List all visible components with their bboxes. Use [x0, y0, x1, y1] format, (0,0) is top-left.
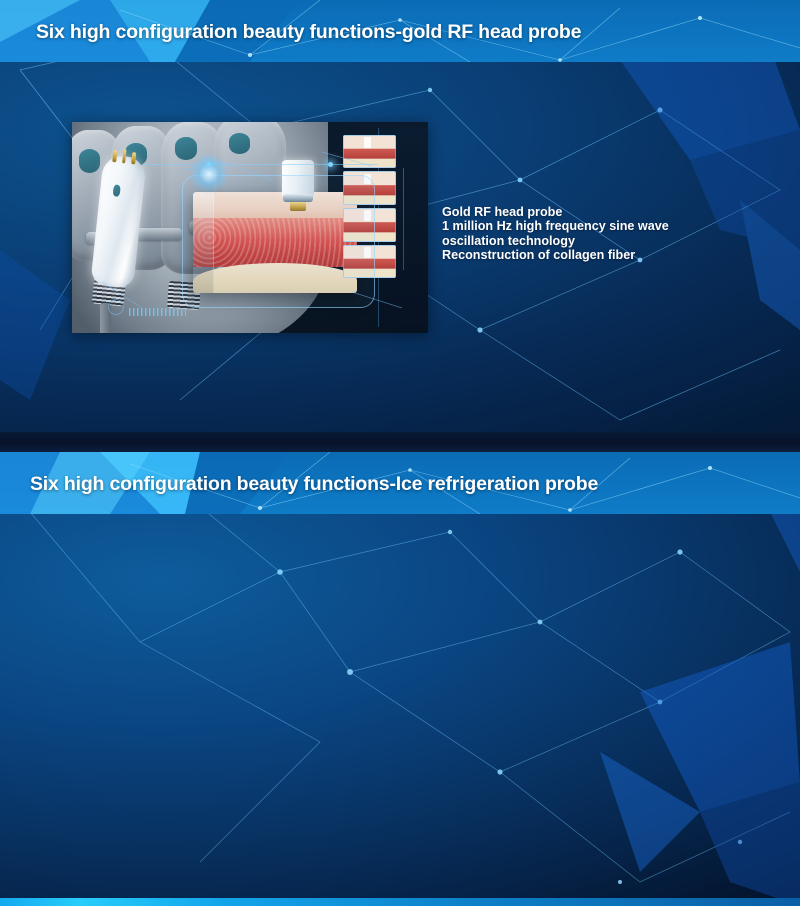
feature-description-gold-rf: Gold RF head probe 1 million Hz high fre…: [442, 205, 669, 263]
hud-light-flare: [189, 154, 229, 194]
feature-panel-gold-rf: Six high configuration beauty functions-…: [0, 0, 800, 432]
product-feature-page: Six high configuration beauty functions-…: [0, 0, 800, 906]
panel-divider: [0, 432, 800, 452]
panel-title-ice-refrigeration: Six high configuration beauty functions-…: [30, 473, 598, 496]
product-photo-gold-rf: [72, 122, 428, 333]
panel-background: [0, 452, 800, 906]
panel-title-gold-rf: Six high configuration beauty functions-…: [36, 21, 581, 44]
bottom-accent-strip: [0, 898, 800, 906]
hud-wire-overlay: [72, 122, 428, 333]
feature-panel-ice-refrigeration: Six high configuration beauty functions-…: [0, 452, 800, 906]
background-polygon-network: [0, 452, 800, 906]
